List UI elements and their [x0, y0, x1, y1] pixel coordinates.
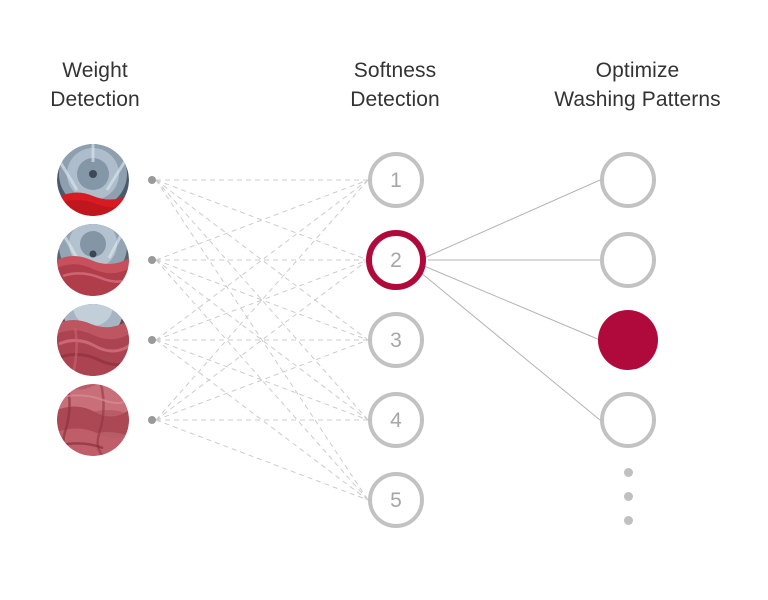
output-node-3-selected[interactable]: [598, 310, 658, 370]
output-node-2[interactable]: [600, 232, 656, 288]
hidden-node-1[interactable]: 1: [368, 152, 424, 208]
hidden-node-1-label: 1: [390, 170, 402, 191]
neural-network-diagram: Weight Detection Softness Detection Opti…: [0, 0, 768, 600]
source-dot-3: [148, 336, 156, 344]
source-dot-2: [148, 256, 156, 264]
output-node-4[interactable]: [600, 392, 656, 448]
input-thumbnail-1[interactable]: [57, 144, 129, 216]
hidden-node-2-label: 2: [390, 250, 402, 271]
output-node-1[interactable]: [600, 152, 656, 208]
output-ellipsis-dot-3: [624, 516, 633, 525]
output-ellipsis-dot-2: [624, 492, 633, 501]
source-dot-1: [148, 176, 156, 184]
hidden-node-4[interactable]: 4: [368, 392, 424, 448]
input-thumbnail-3[interactable]: [57, 304, 129, 376]
hidden-node-4-label: 4: [390, 410, 402, 431]
hidden-node-2[interactable]: 2: [366, 230, 426, 290]
output-ellipsis-dot-1: [624, 468, 633, 477]
hidden-node-3[interactable]: 3: [368, 312, 424, 368]
hidden-node-5-label: 5: [390, 490, 402, 511]
hidden-node-5[interactable]: 5: [368, 472, 424, 528]
hidden-node-3-label: 3: [390, 330, 402, 351]
input-to-hidden-edges: [156, 180, 368, 500]
source-dot-4: [148, 416, 156, 424]
input-thumbnail-2[interactable]: [57, 224, 129, 296]
hidden-to-output-edges: [420, 180, 600, 420]
input-thumbnail-4[interactable]: [57, 384, 129, 456]
